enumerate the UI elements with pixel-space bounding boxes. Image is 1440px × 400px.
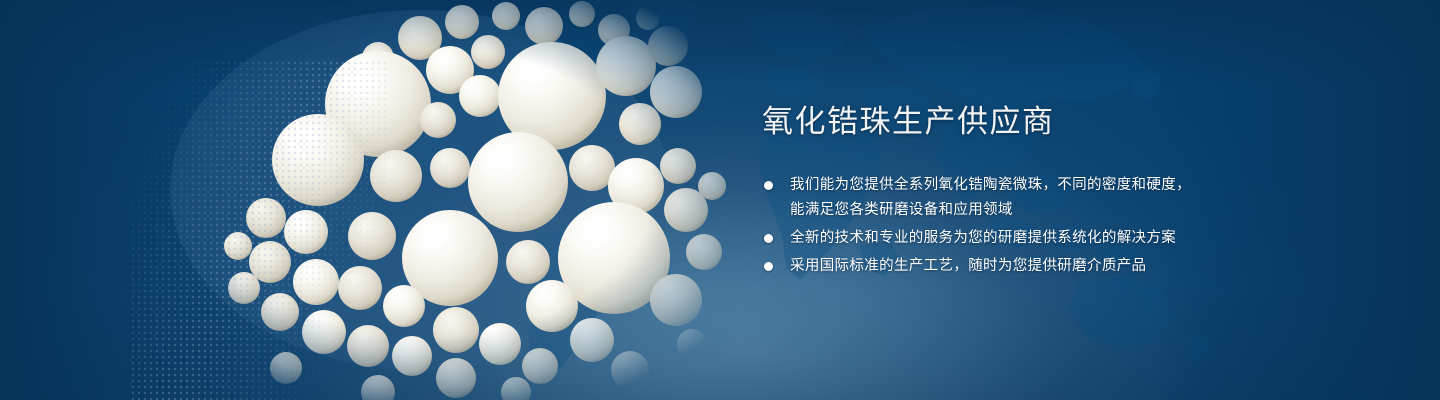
feature-list: 我们能为您提供全系列氧化锆陶瓷微珠，不同的密度和硬度， 能满足您各类研磨设备和应…: [762, 173, 1322, 279]
banner-copy: 氧化锆珠生产供应商 我们能为您提供全系列氧化锆陶瓷微珠，不同的密度和硬度， 能满…: [762, 104, 1322, 282]
zirconia-beads-photo: [120, 0, 740, 400]
bullet-dot-icon: [764, 262, 773, 271]
feature-text-line1: 采用国际标准的生产工艺，随时为您提供研磨介质产品: [790, 258, 1146, 274]
feature-item: 我们能为您提供全系列氧化锆陶瓷微珠，不同的密度和硬度， 能满足您各类研磨设备和应…: [762, 173, 1322, 223]
banner-headline: 氧化锆珠生产供应商: [762, 104, 1322, 141]
bullet-dot-icon: [764, 181, 773, 190]
feature-item: 全新的技术和专业的服务为您的研磨提供系统化的解决方案: [762, 226, 1322, 251]
feature-text-line2: 能满足您各类研磨设备和应用领域: [790, 198, 1322, 223]
bullet-dot-icon: [764, 234, 773, 243]
feature-text-line1: 全新的技术和专业的服务为您的研磨提供系统化的解决方案: [790, 230, 1176, 246]
feature-text-line1: 我们能为您提供全系列氧化锆陶瓷微珠，不同的密度和硬度，: [790, 177, 1191, 193]
feature-item: 采用国际标准的生产工艺，随时为您提供研磨介质产品: [762, 254, 1322, 279]
hero-banner: 氧化锆珠生产供应商 我们能为您提供全系列氧化锆陶瓷微珠，不同的密度和硬度， 能满…: [0, 0, 1440, 400]
